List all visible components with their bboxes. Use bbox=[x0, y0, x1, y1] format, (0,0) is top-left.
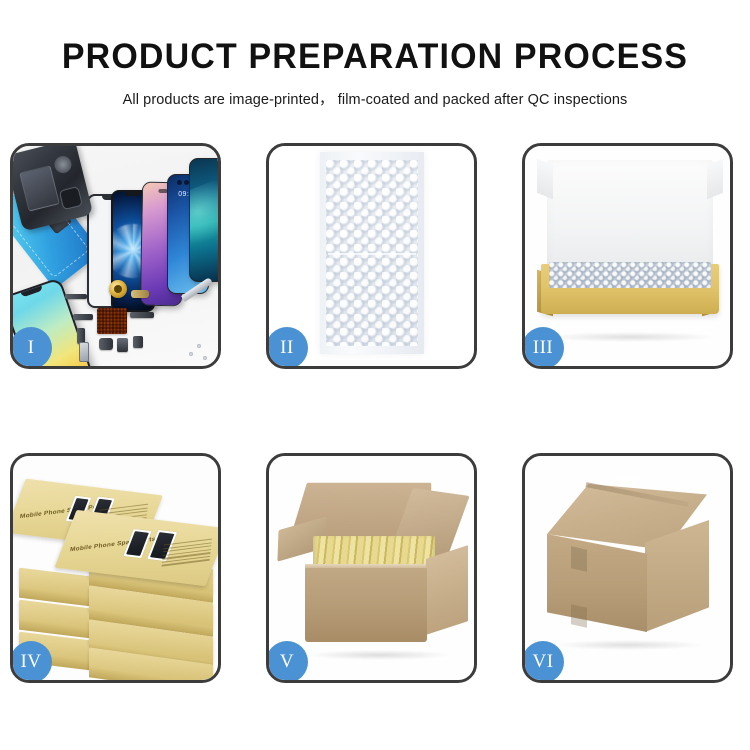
step-badge-4: IV bbox=[10, 641, 52, 683]
carton-tape-patch-top bbox=[571, 546, 587, 571]
teal-wave-display-phone-icon bbox=[189, 158, 218, 282]
step-badge-5: V bbox=[266, 641, 308, 683]
battery-component bbox=[19, 165, 60, 212]
process-step-panel-1: 09:08 bbox=[10, 143, 221, 369]
carton-tape-patch-bottom bbox=[571, 604, 587, 627]
drop-shadow bbox=[555, 640, 703, 650]
phone-notch bbox=[125, 192, 141, 196]
vibration-motor-icon bbox=[117, 338, 128, 352]
punch-hole-camera bbox=[177, 180, 182, 185]
flex-cable-icon-4 bbox=[130, 312, 154, 318]
bubble-wrapped-contents-icon bbox=[549, 262, 711, 288]
process-steps-grid: 09:08 bbox=[10, 143, 740, 683]
process-step-panel-6: VI bbox=[522, 453, 733, 683]
bubble-wrap-sleeve-icon bbox=[320, 152, 424, 354]
carton-side-panel bbox=[426, 545, 468, 635]
camera-module bbox=[59, 186, 83, 210]
sim-tray-icon bbox=[79, 342, 89, 362]
step-badge-3: III bbox=[522, 327, 564, 369]
screw-icon-3 bbox=[203, 356, 207, 360]
disassembled-back-housing-icon bbox=[13, 146, 93, 232]
drop-shadow bbox=[547, 332, 715, 342]
product-preparation-process-infographic: PRODUCT PREPARATION PROCESS All products… bbox=[0, 0, 750, 750]
step-badge-2: II bbox=[266, 327, 308, 369]
process-step-panel-2: II bbox=[266, 143, 477, 369]
page-title: PRODUCT PREPARATION PROCESS bbox=[11, 0, 739, 74]
process-step-panel-5: V bbox=[266, 453, 477, 683]
box-spec-text-block-2 bbox=[161, 539, 212, 569]
drop-shadow bbox=[309, 650, 449, 660]
box-side-edge bbox=[89, 667, 213, 680]
open-shipping-carton-icon bbox=[305, 568, 427, 642]
speaker-module-icon bbox=[99, 338, 113, 350]
page-subtitle: All products are image-printed， film-coa… bbox=[0, 74, 750, 109]
step-badge-6: VI bbox=[522, 641, 564, 683]
header: PRODUCT PREPARATION PROCESS All products… bbox=[0, 0, 750, 109]
copper-mesh-shield-icon bbox=[97, 308, 127, 334]
flex-cable-icon-3 bbox=[73, 314, 93, 320]
screw-icon-1 bbox=[189, 352, 193, 356]
wireless-coil-component bbox=[53, 154, 74, 175]
screw-icon-2 bbox=[197, 344, 201, 348]
flex-cable-icon-2 bbox=[131, 290, 149, 298]
step-badge-1: I bbox=[10, 327, 52, 369]
wrap-seam bbox=[328, 253, 416, 255]
artwork-display bbox=[126, 531, 149, 556]
flex-cable-icon-1 bbox=[65, 294, 87, 299]
process-step-panel-3: III bbox=[522, 143, 733, 369]
process-step-panel-4: Mobile Phone Spare Parts bbox=[10, 453, 221, 683]
gold-coil-component-icon bbox=[109, 280, 127, 298]
phone-notch-large bbox=[21, 286, 43, 298]
connector-icon bbox=[133, 336, 143, 348]
